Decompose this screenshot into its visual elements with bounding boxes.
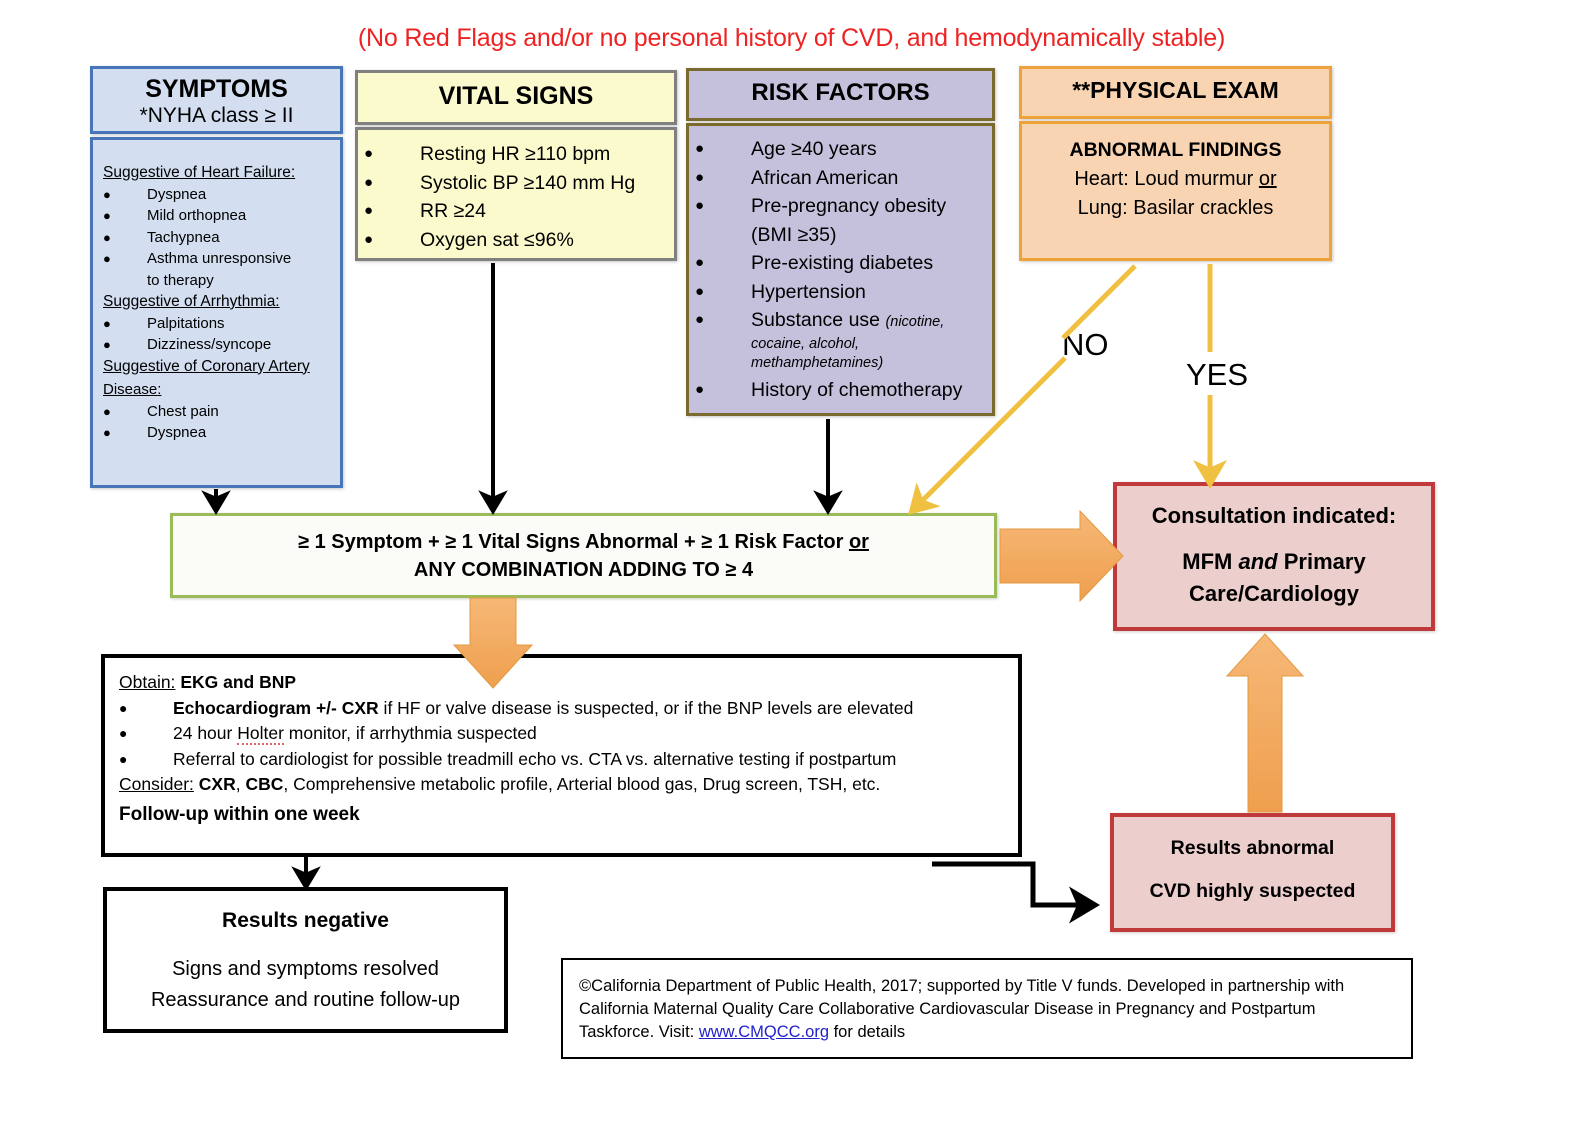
list-item: ●History of chemotherapy [695, 376, 986, 405]
consultation-primary: Primary [1278, 549, 1366, 574]
criteria-line-1: ≥ 1 Symptom + ≥ 1 Vital Signs Abnormal +… [298, 528, 869, 556]
vital-signs-header-box: VITAL SIGNS [355, 70, 677, 125]
symptoms-group3-word: Disease [103, 381, 157, 398]
risk-factor-item-continuation: (BMI ≥35) [751, 221, 986, 250]
footer-line-3-post: for details [829, 1023, 905, 1041]
symptoms-group3-heading-line1: Suggestive of Coronary Artery [103, 356, 332, 378]
bullet-icon: ● [103, 227, 147, 249]
symptoms-group3-colon: : [157, 381, 161, 398]
list-item: ●Age ≥40 years [695, 135, 986, 164]
results-abnormal-box: Results abnormal CVD highly suspected [1110, 813, 1395, 932]
results-negative-line-1: Signs and symptoms resolved [107, 954, 504, 985]
bullet-icon: ● [364, 226, 420, 255]
bullet-icon: ● [103, 184, 147, 206]
consultation-heading: Consultation indicated: [1117, 500, 1431, 532]
results-abnormal-line-2: CVD highly suspected [1114, 876, 1391, 907]
vital-sign-item: Systolic BP ≥140 mm Hg [420, 169, 635, 198]
risk-factors-title: RISK FACTORS [751, 79, 929, 106]
workup-bullet-1: Echocardiogram +/- CXR if HF or valve di… [173, 696, 913, 722]
bullet-icon: ● [103, 248, 147, 270]
list-item: ●Pre-pregnancy obesity [695, 192, 986, 221]
list-item: ●RR ≥24 [364, 197, 668, 226]
symptoms-subtitle: *NYHA class ≥ II [93, 103, 340, 129]
workup-bullet-2-a: 24 hour [173, 723, 237, 743]
vital-signs-body-box: ●Resting HR ≥110 bpm ●Systolic BP ≥140 m… [355, 127, 677, 261]
risk-factors-body-box: ●Age ≥40 years ●African American ●Pre-pr… [686, 123, 995, 416]
bullet-icon: ● [695, 192, 751, 221]
symptoms-item: Asthma unresponsive [147, 248, 332, 270]
footer-link[interactable]: www.CMQCC.org [699, 1023, 829, 1041]
vital-signs-title: VITAL SIGNS [439, 82, 594, 110]
risk-factor-item: Pre-existing diabetes [751, 249, 933, 278]
decision-label-yes: YES [1186, 357, 1248, 393]
workup-followup: Follow-up within one week [119, 802, 1008, 828]
bullet-icon: ● [695, 306, 751, 335]
consider-label: Consider: [119, 774, 194, 794]
decision-label-no: NO [1062, 327, 1109, 363]
list-item: ●Mild orthopnea [103, 205, 332, 227]
results-abnormal-line-1: Results abnormal [1114, 833, 1391, 864]
consider-cbc: CBC [245, 774, 283, 794]
footer-visit-text: Taskforce. Visit: [579, 1023, 699, 1041]
list-item: ●African American [695, 164, 986, 193]
criteria-line-2: ANY COMBINATION ADDING TO ≥ 4 [414, 556, 753, 584]
results-negative-box: Results negative Signs and symptoms reso… [103, 887, 508, 1033]
bullet-icon: ● [103, 401, 147, 423]
heart-finding-text: Heart: Loud murmur [1074, 168, 1259, 190]
vital-sign-item: RR ≥24 [420, 197, 486, 226]
list-item: ●Resting HR ≥110 bpm [364, 140, 668, 169]
list-item: ●Substance use (nicotine, [695, 306, 986, 335]
symptoms-item: Chest pain [147, 401, 332, 423]
workup-bullet-2: 24 hour Holter monitor, if arrhythmia su… [173, 721, 537, 747]
consider-rest: , Comprehensive metabolic profile, Arter… [283, 774, 880, 794]
symptoms-title: SYMPTOMS [93, 75, 340, 103]
bullet-icon: ● [695, 249, 751, 278]
consultation-line-2: Care/Cardiology [1117, 578, 1431, 610]
bullet-icon: ● [119, 747, 173, 773]
obtain-value: EKG and BNP [180, 672, 296, 692]
results-negative-heading: Results negative [107, 905, 504, 936]
symptoms-header-box: SYMPTOMS *NYHA class ≥ II [90, 66, 343, 134]
physical-exam-lung-line: Lung: Basilar crackles [1028, 194, 1323, 223]
bullet-icon: ● [103, 422, 147, 444]
arrow-criteria-to-consultation [1000, 511, 1123, 601]
symptoms-item: Dyspnea [147, 422, 332, 444]
list-item: ●Dyspnea [103, 422, 332, 444]
criteria-box: ≥ 1 Symptom + ≥ 1 Vital Signs Abnormal +… [170, 513, 997, 598]
spacer [1117, 532, 1431, 546]
bullet-icon: ● [364, 140, 420, 169]
list-item: ●Hypertension [695, 278, 986, 307]
workup-bullet-2-holter: Holter [237, 723, 284, 745]
physical-exam-title: **PHYSICAL EXAM [1072, 77, 1279, 103]
footer-box: ©California Department of Public Health,… [561, 958, 1413, 1059]
workup-consider-line: Consider: CXR, CBC, Comprehensive metabo… [119, 772, 1008, 798]
list-item: ●Chest pain [103, 401, 332, 423]
risk-factor-item: History of chemotherapy [751, 376, 962, 405]
spacer [1114, 864, 1391, 876]
abnormal-findings-heading: ABNORMAL FINDINGS [1028, 136, 1323, 165]
workup-bullet-1-rest: if HF or valve disease is suspected, or … [379, 698, 914, 718]
list-item: ●Referral to cardiologist for possible t… [119, 747, 1008, 773]
symptoms-group3-heading-line2: Disease: [103, 379, 332, 401]
symptoms-item: Dyspnea [147, 184, 332, 206]
risk-factor-item: African American [751, 164, 898, 193]
bullet-icon: ● [695, 135, 751, 164]
vital-sign-item: Resting HR ≥110 bpm [420, 140, 610, 169]
heart-finding-or: or [1259, 168, 1277, 190]
consultation-line-1: MFM and Primary [1117, 546, 1431, 578]
arrow-results-abnormal-to-consultation [1227, 634, 1303, 812]
list-item: ●Palpitations [103, 313, 332, 335]
physical-exam-body-box: ABNORMAL FINDINGS Heart: Loud murmur or … [1019, 121, 1332, 261]
symptoms-item: Mild orthopnea [147, 205, 332, 227]
risk-factors-header-box: RISK FACTORS [686, 68, 995, 121]
obtain-label: Obtain: [119, 672, 175, 692]
consider-cxr: CXR [199, 774, 236, 794]
footer-line-1: ©California Department of Public Health,… [579, 975, 1397, 998]
list-item: ●Pre-existing diabetes [695, 249, 986, 278]
workup-box: Obtain: EKG and BNP ●Echocardiogram +/- … [101, 654, 1022, 857]
symptoms-group2-heading: Suggestive of Arrhythmia: [103, 291, 332, 313]
nyha-text: *NYHA class ≥ II [140, 104, 294, 127]
substance-note-3: methamphetamines) [751, 354, 986, 373]
consider-sep: , [236, 774, 246, 794]
workup-obtain-line: Obtain: EKG and BNP [119, 670, 1008, 696]
physical-exam-heart-line: Heart: Loud murmur or [1028, 165, 1323, 194]
criteria-line-1-or: or [849, 531, 869, 553]
bullet-icon: ● [695, 278, 751, 307]
risk-factor-item: Pre-pregnancy obesity [751, 192, 946, 221]
bullet-icon: ● [364, 169, 420, 198]
symptoms-item: Palpitations [147, 313, 332, 335]
list-item: ●24 hour Holter monitor, if arrhythmia s… [119, 721, 1008, 747]
bullet-icon: ● [119, 696, 173, 722]
bullet-icon: ● [103, 313, 147, 335]
list-item: ●Dyspnea [103, 184, 332, 206]
substance-use-label: Substance use [751, 309, 880, 331]
list-item: ●Tachypnea [103, 227, 332, 249]
criteria-line-1-text: ≥ 1 Symptom + ≥ 1 Vital Signs Abnormal +… [298, 531, 849, 553]
workup-bullet-2-b: monitor, if arrhythmia suspected [284, 723, 537, 743]
consultation-box: Consultation indicated: MFM and Primary … [1113, 482, 1435, 631]
bullet-icon: ● [695, 376, 751, 405]
list-item: ●Systolic BP ≥140 mm Hg [364, 169, 668, 198]
symptoms-group1-heading: Suggestive of Heart Failure: [103, 162, 332, 184]
bullet-icon: ● [119, 721, 173, 747]
risk-factor-item: Age ≥40 years [751, 135, 877, 164]
list-item: ●Oxygen sat ≤96% [364, 226, 668, 255]
list-item: ●Dizziness/syncope [103, 334, 332, 356]
list-item: ●Echocardiogram +/- CXR if HF or valve d… [119, 696, 1008, 722]
symptoms-body-box: Suggestive of Heart Failure: ●Dyspnea ●M… [90, 137, 343, 488]
risk-factor-item: Substance use (nicotine, [751, 306, 944, 335]
physical-exam-header-box: **PHYSICAL EXAM [1019, 66, 1332, 119]
substance-note-1: (nicotine, [885, 314, 944, 330]
bullet-icon: ● [103, 334, 147, 356]
arrow-workup-to-results-abnormal [932, 864, 1085, 905]
consultation-mfm: MFM [1182, 549, 1238, 574]
risk-factor-item: Hypertension [751, 278, 866, 307]
substance-note-2: cocaine, alcohol, [751, 335, 986, 354]
bullet-icon: ● [695, 164, 751, 193]
footer-line-2: California Maternal Quality Care Collabo… [579, 998, 1397, 1021]
symptoms-item-continuation: to therapy [147, 270, 332, 292]
bullet-icon: ● [103, 205, 147, 227]
vital-sign-item: Oxygen sat ≤96% [420, 226, 574, 255]
bullet-icon: ● [364, 197, 420, 226]
header-caption: (No Red Flags and/or no personal history… [0, 24, 1583, 53]
list-item: ●Asthma unresponsive [103, 248, 332, 270]
results-negative-line-2: Reassurance and routine follow-up [107, 985, 504, 1016]
footer-line-3: Taskforce. Visit: www.CMQCC.org for deta… [579, 1021, 1397, 1044]
flowchart-canvas: (No Red Flags and/or no personal history… [0, 0, 1583, 1127]
consultation-and: and [1239, 549, 1278, 574]
workup-bullet-3: Referral to cardiologist for possible tr… [173, 747, 896, 773]
workup-bullet-1-bold: Echocardiogram +/- CXR [173, 698, 379, 718]
symptoms-item: Dizziness/syncope [147, 334, 332, 356]
symptoms-item: Tachypnea [147, 227, 332, 249]
